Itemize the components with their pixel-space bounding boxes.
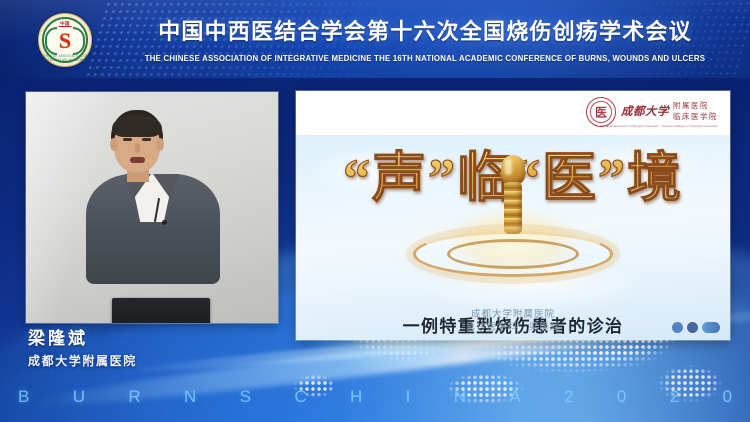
- hospital-logo: 医 成都大学 附属医院 临床医学院: [586, 97, 718, 127]
- hospital-logo-text: 成都大学 附属医院 临床医学院: [621, 100, 718, 124]
- slide-content-area: “声”临“医”境 一例特重型烧伤患者的诊治 成都大学附属医院 急诊医学科 梁隆斌: [296, 135, 730, 340]
- hospital-line-1: 附属医院: [673, 101, 718, 111]
- slide-footer-line-2: 急诊医学科 梁隆斌: [296, 321, 730, 334]
- slide-footer-text: 成都大学附属医院 急诊医学科 梁隆斌: [296, 308, 730, 334]
- hospital-line-2: 临床医学院: [673, 112, 718, 122]
- slide-partner-icons: [672, 322, 720, 333]
- slide-header-bar: 医 成都大学 附属医院 临床医学院 Affiliated Hospital of…: [296, 91, 730, 135]
- speaker-mouth: [130, 157, 145, 163]
- conference-title-chinese: 中国中西医结合学会第十六次全国烧伤创疡学术会议: [110, 14, 740, 46]
- partner-icon-3: [702, 322, 720, 333]
- presentation-slide[interactable]: 医 成都大学 附属医院 临床医学院 Affiliated Hospital of…: [296, 91, 730, 340]
- slide-main-title: “声”临“医”境: [296, 147, 730, 209]
- hospital-english-name: Affiliated Hospital of Chengdu Universit…: [600, 124, 718, 128]
- conference-title-english: THE CHINESE ASSOCIATION OF INTEGRATIVE M…: [121, 54, 729, 63]
- seal-bottom-text: CHINESE ASSOCIATION OF INTEGRATIVE MEDIC…: [38, 54, 92, 62]
- speaker-nose: [135, 143, 140, 153]
- speaker-lower-third: 梁隆斌 成都大学附属医院: [0, 322, 290, 380]
- seal-divider-line: [59, 26, 72, 27]
- slide-footer-line-1: 成都大学附属医院: [296, 308, 730, 321]
- hospital-seal-glyph: 医: [595, 104, 607, 121]
- speaker-ear-left: [110, 138, 118, 151]
- speaker-figure: [78, 110, 228, 295]
- hospital-subtitle-lines: 附属医院 临床医学院: [673, 100, 718, 121]
- speaker-video-feed[interactable]: S: [26, 92, 278, 323]
- partner-icon-2: [687, 322, 698, 333]
- hospital-university-name: 成都大学: [621, 100, 669, 124]
- partner-icon-1: [672, 322, 683, 333]
- speaker-ear-right: [156, 138, 164, 151]
- wordmark-letter: U: [73, 387, 85, 407]
- wordmark-letter: B: [18, 387, 29, 407]
- speaker-eye-right: [142, 138, 151, 141]
- hospital-seal-icon: 医: [586, 97, 616, 127]
- wordmark-letter: R: [128, 387, 140, 407]
- header-title-block: 中国中西医结合学会第十六次全国烧伤创疡学术会议 THE CHINESE ASSO…: [110, 14, 740, 63]
- laptop-screen: [112, 298, 210, 323]
- association-seal-logo: 中国 S CHINESE ASSOCIATION OF INTEGRATIVE …: [38, 13, 92, 67]
- lapel-microphone-tip: [162, 220, 167, 225]
- broadcast-stage: 中国 S CHINESE ASSOCIATION OF INTEGRATIVE …: [0, 0, 750, 422]
- slide-cloud-3: [416, 256, 646, 312]
- wordmark-letter: N: [184, 387, 196, 407]
- conference-header-banner: 中国 S CHINESE ASSOCIATION OF INTEGRATIVE …: [0, 0, 750, 78]
- speaker-hair-front: [112, 115, 162, 137]
- seal-center-glyph: S: [59, 30, 71, 52]
- speaker-eye-left: [123, 138, 132, 141]
